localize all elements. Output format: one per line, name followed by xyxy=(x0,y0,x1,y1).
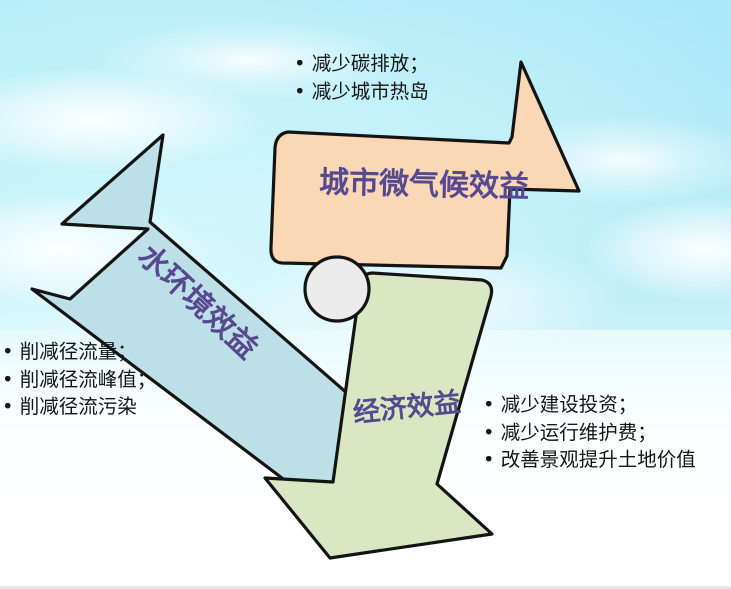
arrow-urban-microclimate-label: 城市微气候效益 xyxy=(319,165,530,205)
list-item: • 削减径流污染 xyxy=(2,393,156,421)
list-item: • 减少城市热岛 xyxy=(294,78,429,106)
list-item: • 减少运行维护费； xyxy=(483,419,696,447)
list-item: • 削减径流量； xyxy=(2,338,156,366)
diagram-canvas: 城市微气候效益 水环境效益 经济效益 • 减少碳排放； • 减少城市热岛 • 削… xyxy=(0,0,731,589)
list-item: • 削减径流峰值； xyxy=(2,366,156,394)
water-benefits-list: • 削减径流量； • 削减径流峰值； • 削减径流污染 xyxy=(2,338,156,421)
center-circle[interactable] xyxy=(305,257,369,321)
list-item: • 减少建设投资； xyxy=(483,391,696,419)
list-item: • 改善景观提升土地价值 xyxy=(483,446,696,474)
economic-benefits-list: • 减少建设投资； • 减少运行维护费； • 改善景观提升土地价值 xyxy=(483,391,696,474)
microclimate-benefits-list: • 减少碳排放； • 减少城市热岛 xyxy=(294,50,429,105)
list-item: • 减少碳排放； xyxy=(294,50,429,78)
